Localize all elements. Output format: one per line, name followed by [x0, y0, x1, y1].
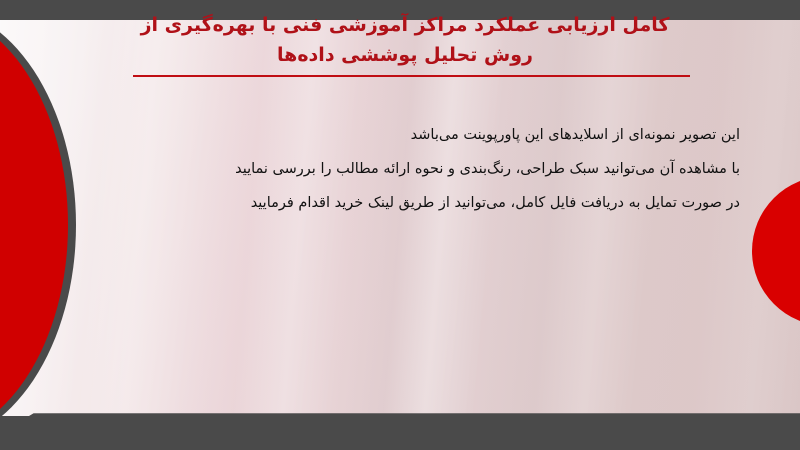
title-divider-rule: [133, 75, 690, 77]
slide-body-line-3: در صورت تمایل به دریافت فایل کامل، می‌تو…: [120, 186, 740, 220]
slide-body-line-1: این تصویر نمونه‌ای از اسلایدهای این پاور…: [120, 118, 740, 152]
slide-title-line-2: روش تحلیل پوششی داده‌ها: [100, 40, 710, 70]
presentation-slide: کامل ارزیابی عملکرد مراکز آموزشی فنی با …: [0, 0, 800, 450]
bottom-frame-strip: [0, 416, 800, 450]
slide-body-text: این تصویر نمونه‌ای از اسلایدهای این پاور…: [120, 118, 740, 220]
slide-title: کامل ارزیابی عملکرد مراکز آموزشی فنی با …: [100, 10, 710, 70]
slide-body-line-2: با مشاهده آن می‌توانید سبک طراحی، رنگ‌بن…: [120, 152, 740, 186]
slide-title-line-1: کامل ارزیابی عملکرد مراکز آموزشی فنی با …: [100, 10, 710, 40]
